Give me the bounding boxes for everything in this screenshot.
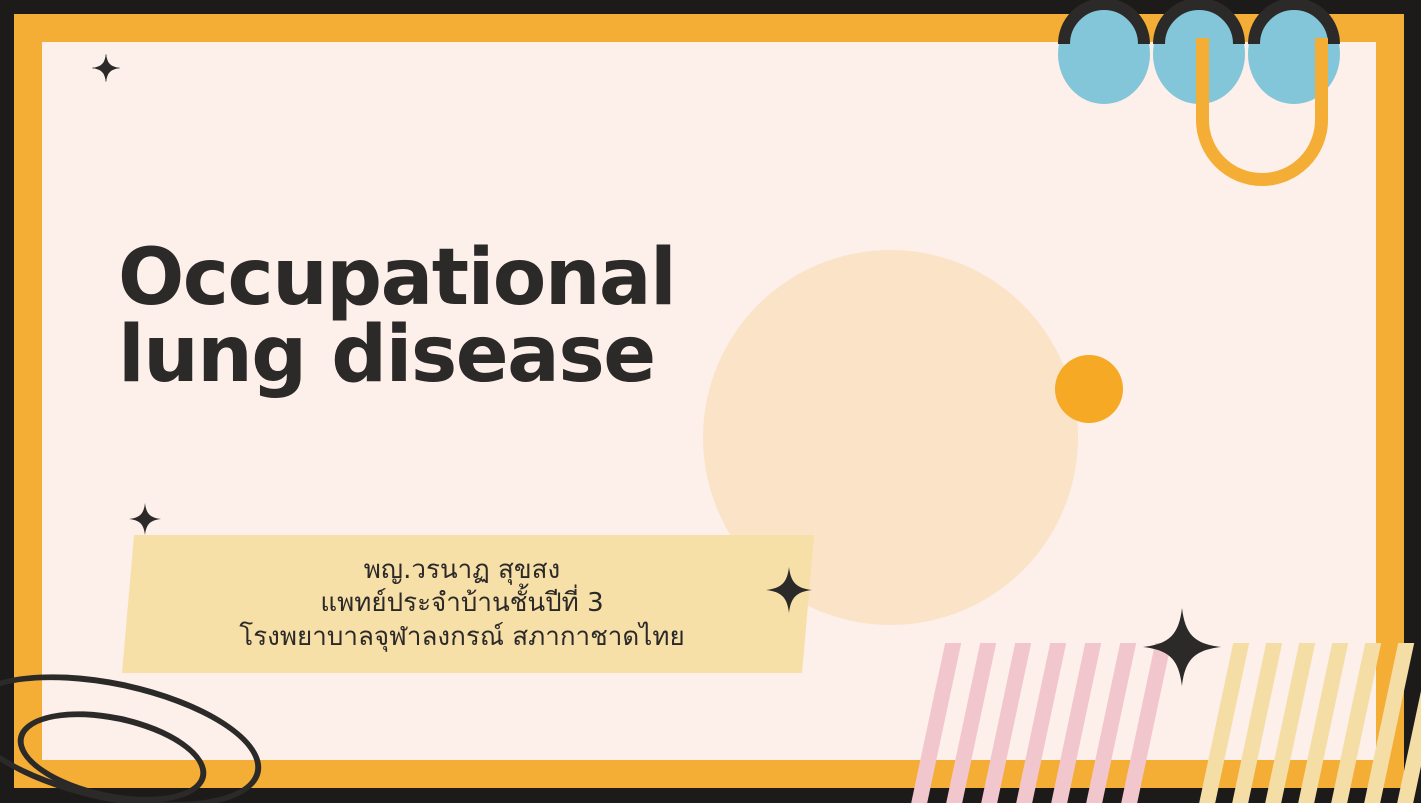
orange-dot-decoration bbox=[1055, 355, 1123, 423]
sparkle-icon bbox=[92, 54, 120, 82]
sparkle-icon bbox=[129, 503, 161, 535]
sparkle-icon bbox=[766, 567, 812, 613]
orange-u-shape-decoration bbox=[1196, 38, 1328, 186]
page-title: Occupational lung disease bbox=[118, 240, 758, 394]
title-line-2: lung disease bbox=[118, 310, 655, 400]
slide-root: Occupational lung disease พญ.วรนาฏ สุขสง… bbox=[0, 0, 1421, 803]
subtitle-line-2: แพทย์ประจำบ้านชั้นปีที่ 3 bbox=[320, 587, 603, 620]
sparkle-icon bbox=[1143, 608, 1221, 686]
ellipse-outline-decoration bbox=[0, 675, 280, 803]
subtitle-line-3: โรงพยาบาลจุฬาลงกรณ์ สภากาชาดไทย bbox=[239, 621, 685, 654]
subtitle-text-block: พญ.วรนาฏ สุขสง แพทย์ประจำบ้านชั้นปีที่ 3… bbox=[122, 535, 802, 673]
subtitle-line-1: พญ.วรนาฏ สุขสง bbox=[364, 554, 560, 587]
